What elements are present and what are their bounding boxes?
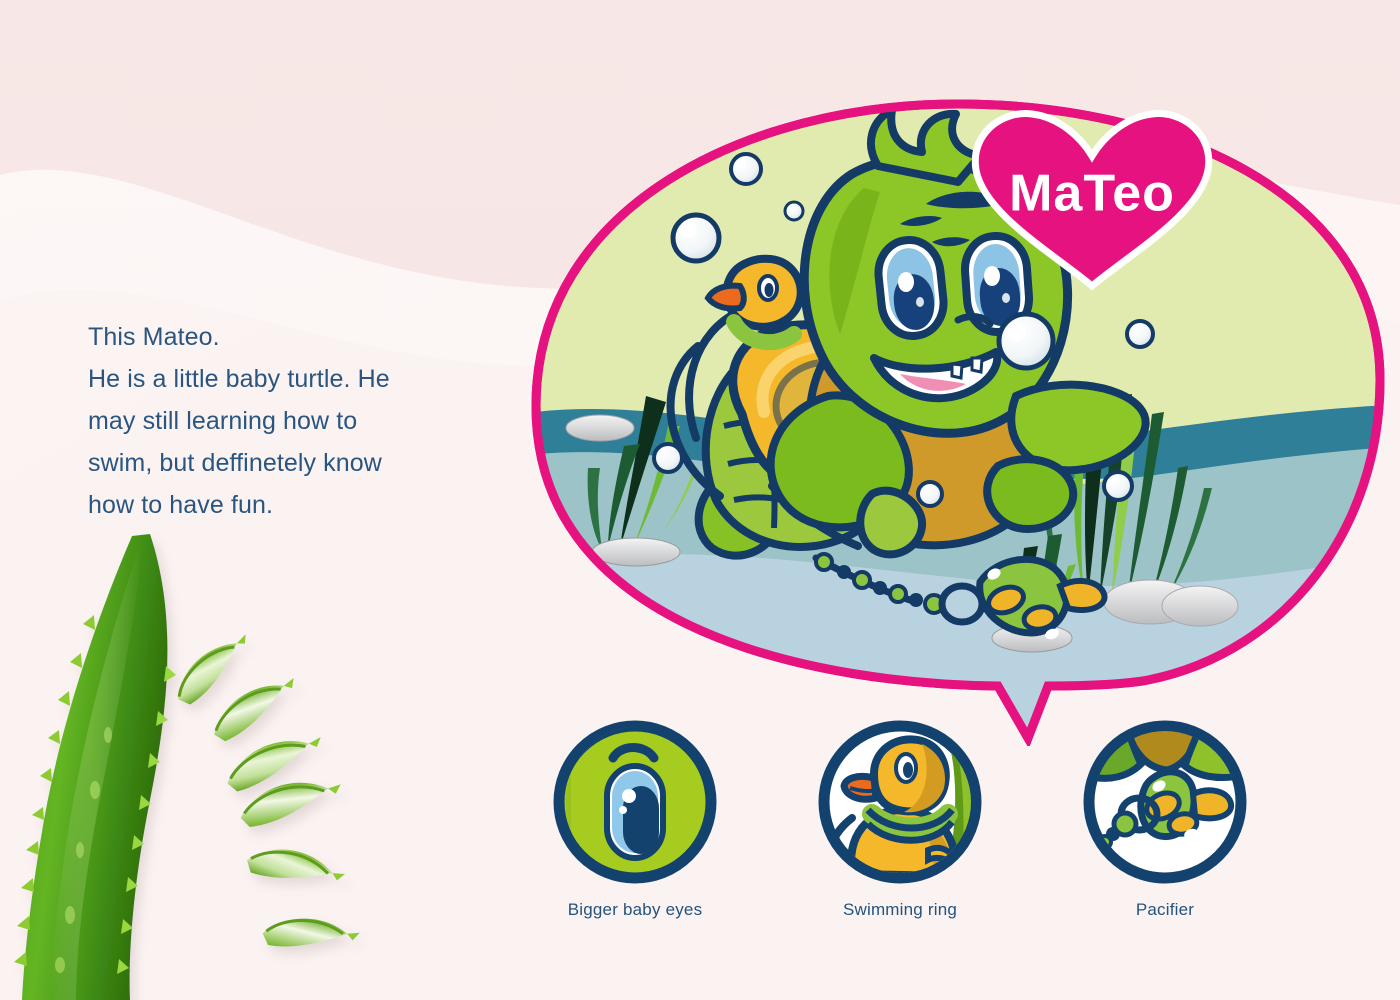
feature-pacifier[interactable]: Pacifier xyxy=(1050,718,1280,920)
feature-label-pacifier: Pacifier xyxy=(1136,900,1194,920)
description-line-1: This Mateo. xyxy=(88,316,468,358)
description-line-4: swim, but deffinetely know xyxy=(88,442,468,484)
character-description: This Mateo. He is a little baby turtle. … xyxy=(88,316,468,526)
aloe-slices xyxy=(165,633,360,966)
bubble xyxy=(1104,472,1132,500)
bubble xyxy=(673,215,719,261)
eye-icon[interactable] xyxy=(551,718,719,886)
duck-ring-icon[interactable] xyxy=(816,718,984,886)
feature-label-bigger-baby-eyes: Bigger baby eyes xyxy=(568,900,703,920)
description-line-2: He is a little baby turtle. He xyxy=(88,358,468,400)
bubble xyxy=(731,154,761,184)
bubble xyxy=(999,314,1053,368)
pacifier-icon[interactable] xyxy=(1081,718,1249,886)
bubble xyxy=(918,482,942,506)
page-root: This Mateo. He is a little baby turtle. … xyxy=(0,0,1400,1000)
aloe-leaf xyxy=(14,534,176,1000)
feature-list: Bigger baby eyes xyxy=(520,718,1280,920)
feature-bigger-baby-eyes[interactable]: Bigger baby eyes xyxy=(520,718,750,920)
aloe-decoration xyxy=(0,520,420,1000)
description-line-3: may still learning how to xyxy=(88,400,468,442)
bubble xyxy=(654,444,682,472)
feature-swimming-ring[interactable]: Swimming ring xyxy=(785,718,1015,920)
bubble xyxy=(785,202,803,220)
character-illustration-bubble xyxy=(528,96,1388,746)
name-badge-label: MaTeo xyxy=(1009,165,1175,223)
name-badge: MaTeo xyxy=(962,104,1222,294)
rock-left xyxy=(566,415,634,441)
feature-label-swimming-ring: Swimming ring xyxy=(843,900,957,920)
pacifier-teat xyxy=(1060,581,1105,610)
bubble xyxy=(1127,321,1153,347)
